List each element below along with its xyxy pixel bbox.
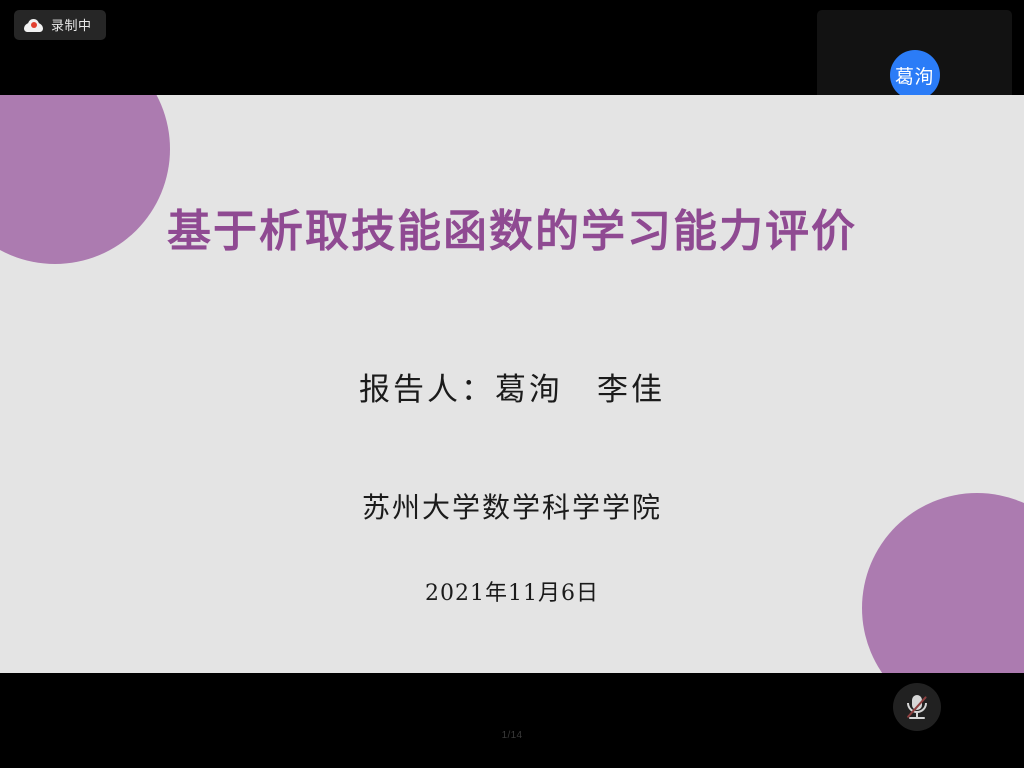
meeting-app-root: 录制中 葛洵 葛洵的屏幕共享 基于析取技能函数的学习能力评价 报告人：葛洵 李佳…: [0, 0, 1024, 768]
mute-button[interactable]: [893, 683, 941, 731]
slide-content: 基于析取技能函数的学习能力评价 报告人：葛洵 李佳 苏州大学数学科学学院 202…: [0, 95, 1024, 673]
recording-label: 录制中: [51, 19, 92, 32]
slide-affiliation: 苏州大学数学科学学院: [0, 493, 1024, 524]
avatar: 葛洵: [890, 50, 940, 100]
page-indicator: 1/14: [0, 731, 1024, 741]
recording-badge[interactable]: 录制中: [14, 10, 106, 40]
slide-date: 2021年11月6日: [0, 582, 1024, 606]
slide-title: 基于析取技能函数的学习能力评价: [0, 208, 1024, 256]
shared-slide-surface[interactable]: 基于析取技能函数的学习能力评价 报告人：葛洵 李佳 苏州大学数学科学学院 202…: [0, 95, 1024, 673]
cloud-record-icon: [24, 19, 43, 32]
slide-presenters: 报告人：葛洵 李佳: [0, 373, 1024, 407]
